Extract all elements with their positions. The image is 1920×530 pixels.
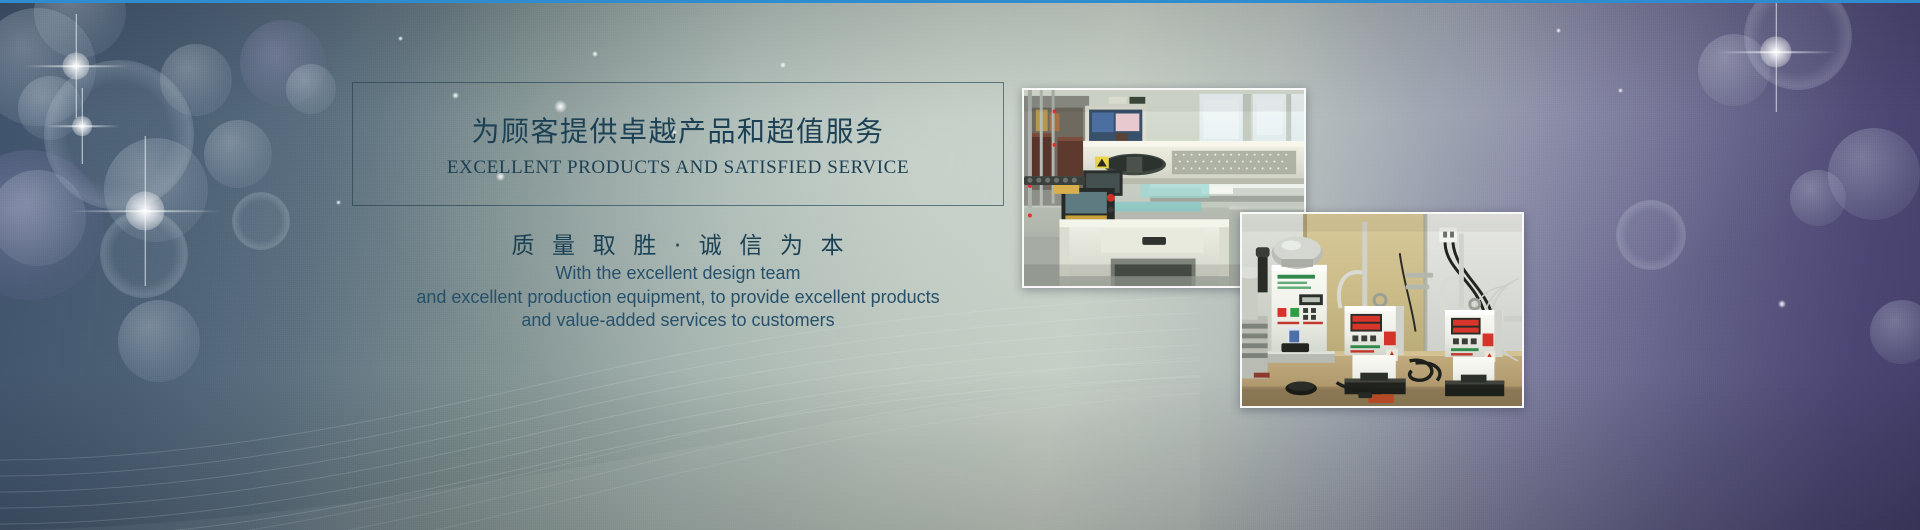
headline-chinese: 为顾客提供卓越产品和超值服务 bbox=[352, 110, 1004, 150]
photo-bench-press-machines[interactable] bbox=[1240, 212, 1524, 408]
banner-text-column: 为顾客提供卓越产品和超值服务 EXCELLENT PRODUCTS AND SA… bbox=[352, 0, 1012, 530]
paragraph-line: With the excellent design team bbox=[312, 262, 1044, 286]
headline-english: EXCELLENT PRODUCTS AND SATISFIED SERVICE bbox=[352, 157, 1004, 179]
description-paragraph: With the excellent design team and excel… bbox=[312, 262, 1044, 333]
paragraph-line: and value-added services to customers bbox=[312, 309, 1044, 333]
photo-2-artwork bbox=[1242, 214, 1522, 406]
hero-banner: 为顾客提供卓越产品和超值服务 EXCELLENT PRODUCTS AND SA… bbox=[0, 0, 1920, 530]
paragraph-line: and excellent production equipment, to p… bbox=[312, 286, 1044, 310]
slogan-chinese: 质 量 取 胜 · 诚 信 为 本 bbox=[352, 226, 1004, 260]
